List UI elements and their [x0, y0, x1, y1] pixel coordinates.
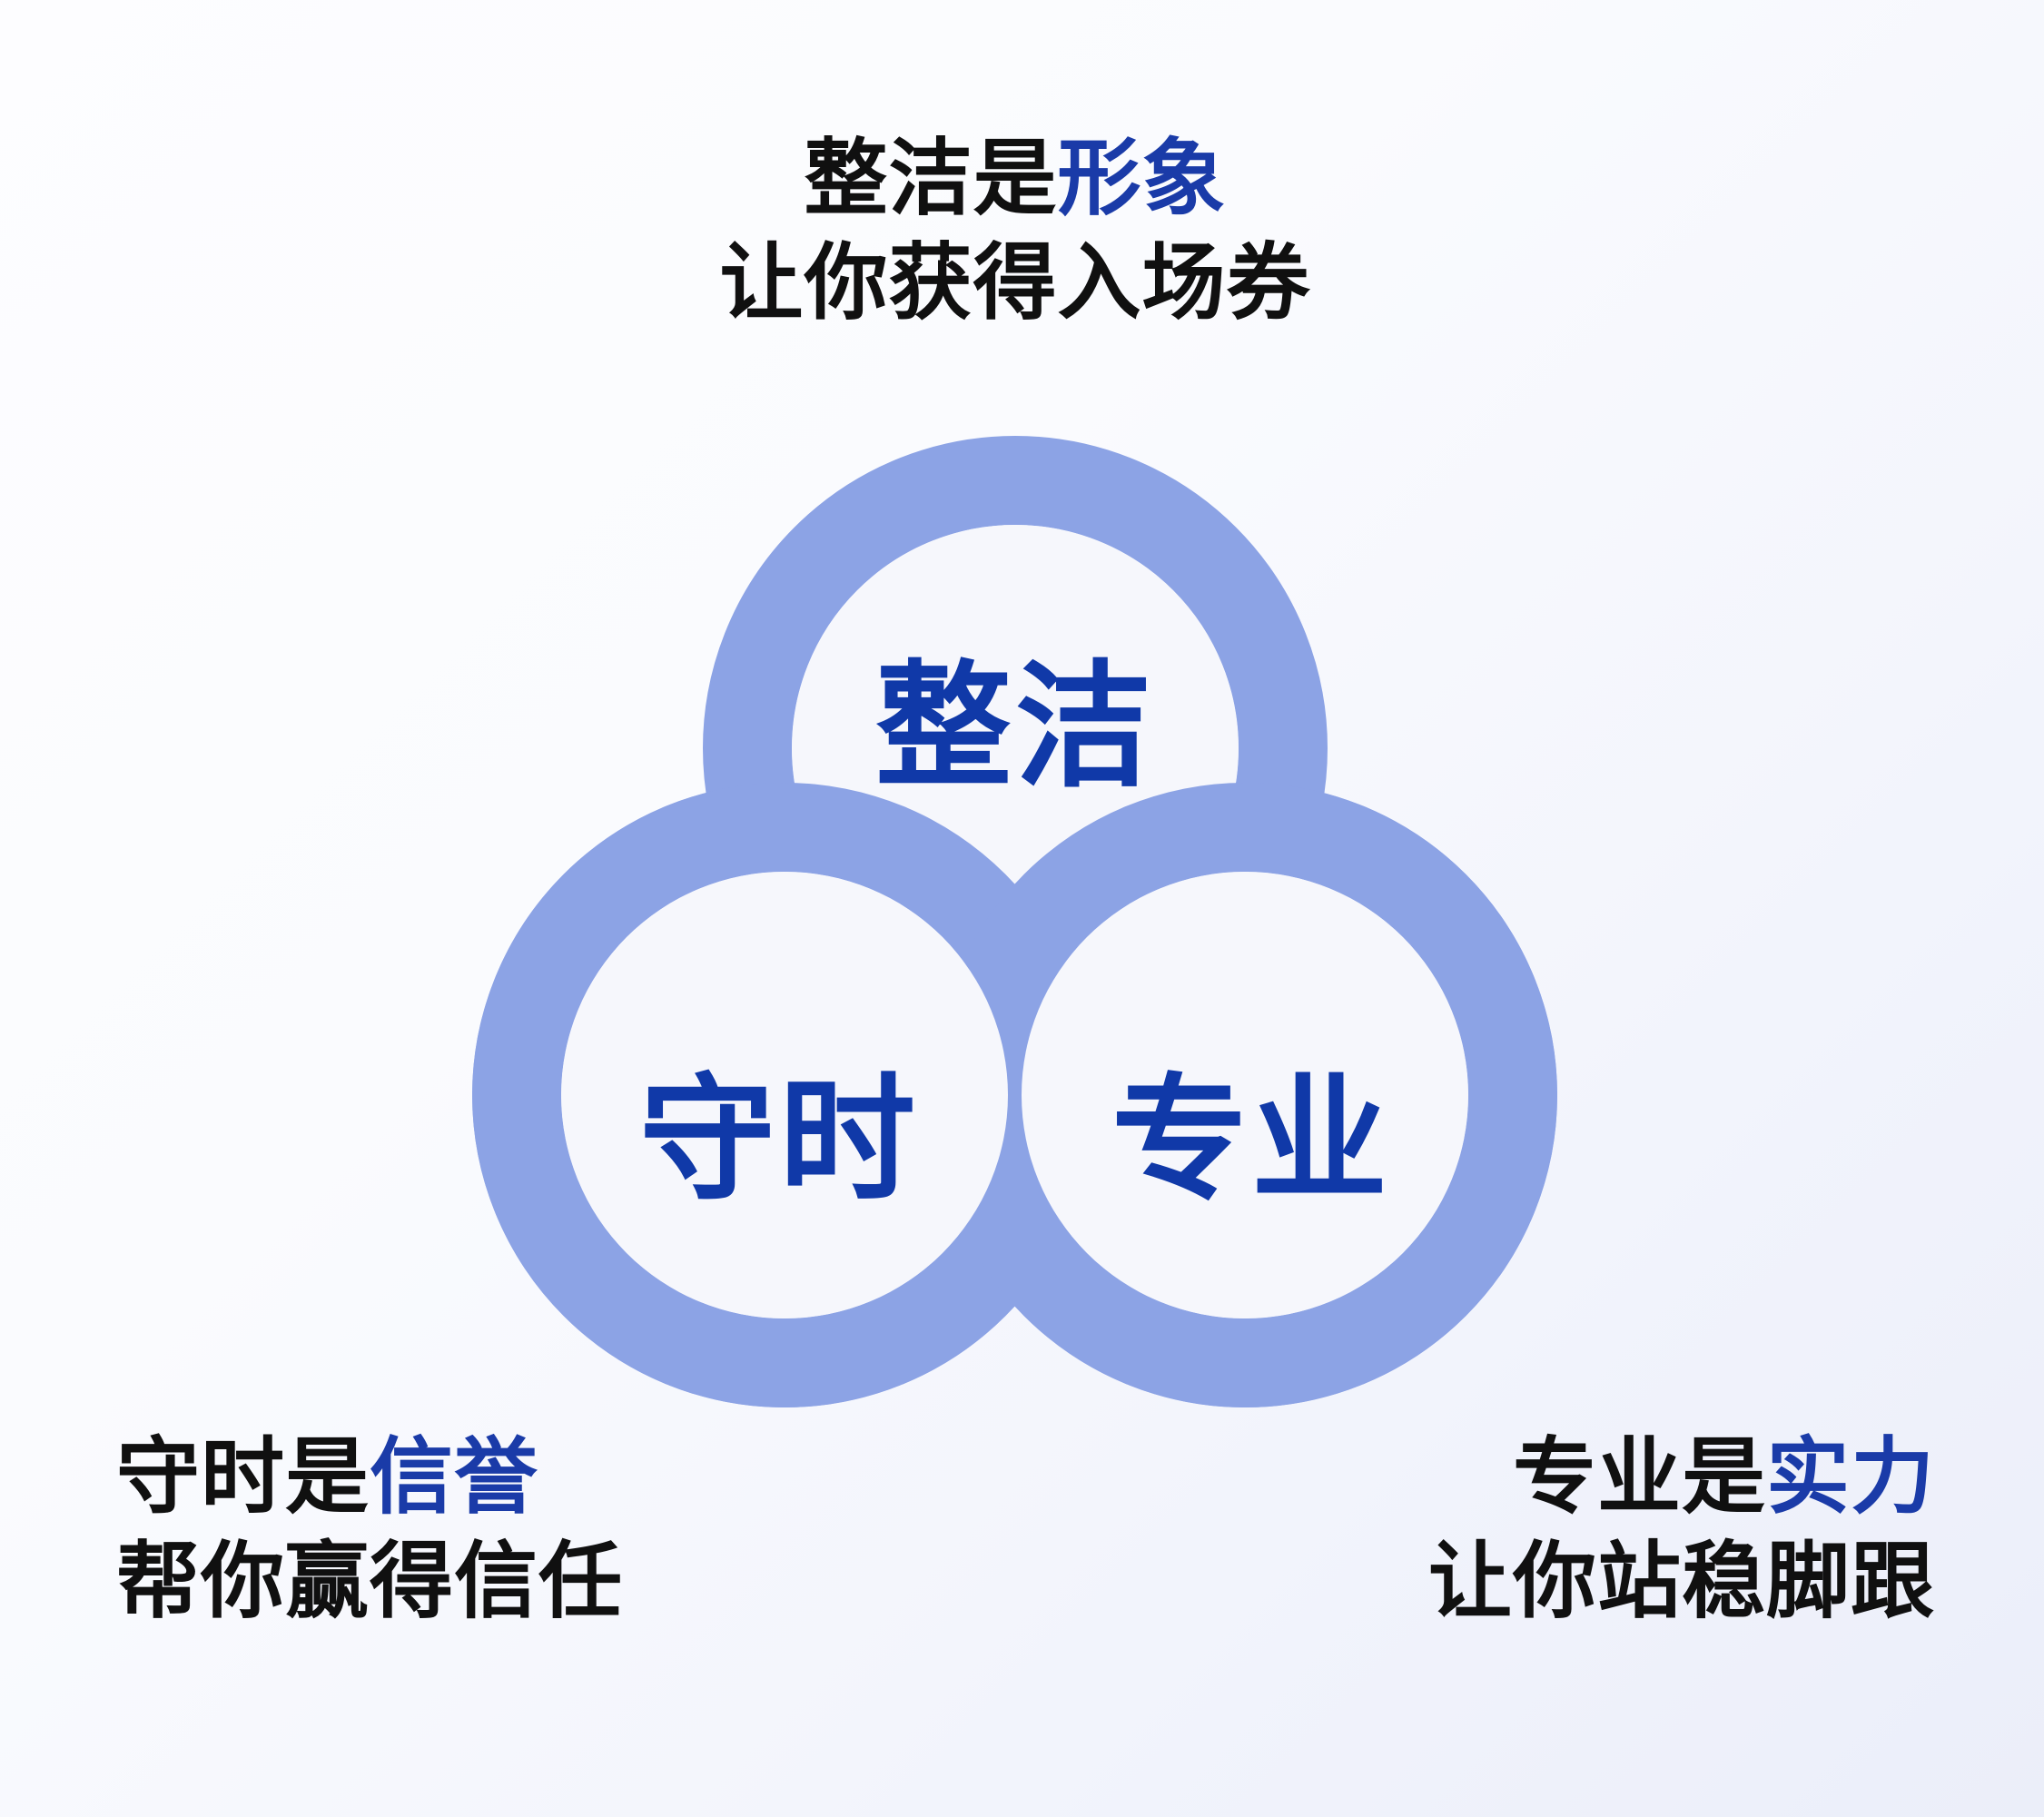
circle-label-zhengjie: 整洁 [875, 658, 1155, 795]
caption-bottom-right: 专业是实力 让你站稳脚跟 [1428, 1426, 1935, 1634]
caption-bottom-left: 守时是信誉 帮你赢得信任 [116, 1426, 623, 1634]
caption-top-line1-highlight: 形象 [1057, 133, 1226, 225]
caption-bottom-left-line1-plain: 守时是 [116, 1431, 370, 1524]
caption-top-line1-plain: 整洁是 [804, 133, 1057, 225]
caption-bottom-right-line1-highlight: 实力 [1766, 1431, 1935, 1524]
caption-bottom-right-line1: 专业是实力 [1428, 1426, 1935, 1530]
caption-top-line1: 整洁是形象 [719, 127, 1310, 232]
caption-bottom-right-line2: 让你站稳脚跟 [1428, 1530, 1935, 1634]
caption-bottom-right-line1-plain: 专业是 [1513, 1431, 1766, 1524]
caption-bottom-left-line1: 守时是信誉 [116, 1426, 623, 1530]
caption-top: 整洁是形象 让你获得入场券 [719, 127, 1310, 336]
caption-bottom-left-line2: 帮你赢得信任 [116, 1530, 623, 1634]
caption-top-line2: 让你获得入场券 [719, 232, 1310, 336]
circle-label-shoushi: 守时 [639, 1071, 919, 1208]
poster-canvas: 整洁 守时 专业 整洁是形象 让你获得入场券 守时是信誉 帮你赢得信任 专业是实… [0, 0, 2044, 1817]
caption-bottom-left-line1-highlight: 信誉 [370, 1431, 538, 1524]
circle-label-zhuanye: 专业 [1111, 1071, 1391, 1208]
